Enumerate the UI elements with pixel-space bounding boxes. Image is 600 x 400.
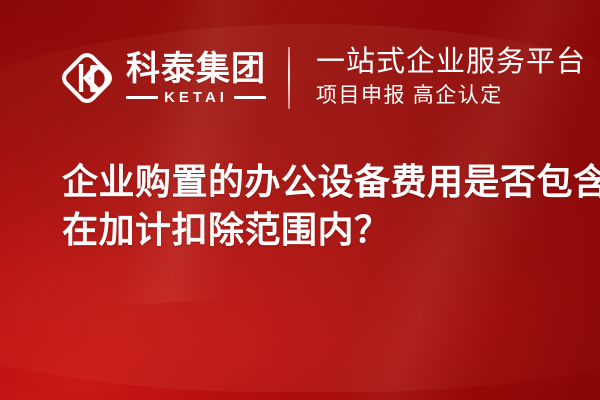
brand-name-en-row: KETAI [126, 89, 266, 106]
banner-header: 科泰集团 KETAI 一站式企业服务平台 项目申报 高企认定 [58, 38, 586, 118]
ketai-diamond-kd-monogram-icon [58, 49, 116, 107]
brand-name-cn: 科泰集团 [126, 52, 266, 87]
brand-wordmark: 科泰集团 KETAI [126, 50, 266, 107]
wordmark-dash-left [126, 96, 158, 99]
promo-banner: 科泰集团 KETAI 一站式企业服务平台 项目申报 高企认定 企业购置的办公设备… [0, 0, 600, 400]
brand-logo[interactable]: 科泰集团 KETAI [58, 49, 266, 107]
header-divider [288, 47, 290, 109]
brand-name-en: KETAI [164, 89, 228, 106]
headline-line-2: 在加计扣除范围内？ [62, 206, 572, 254]
tagline-secondary: 项目申报 高企认定 [316, 82, 586, 108]
brand-tagline: 一站式企业服务平台 项目申报 高企认定 [316, 46, 586, 111]
tagline-primary: 一站式企业服务平台 [316, 46, 586, 78]
headline-block: 企业购置的办公设备费用是否包含 在加计扣除范围内？ [62, 158, 572, 254]
wordmark-dash-right [234, 96, 266, 99]
headline-line-1: 企业购置的办公设备费用是否包含 [62, 158, 572, 206]
